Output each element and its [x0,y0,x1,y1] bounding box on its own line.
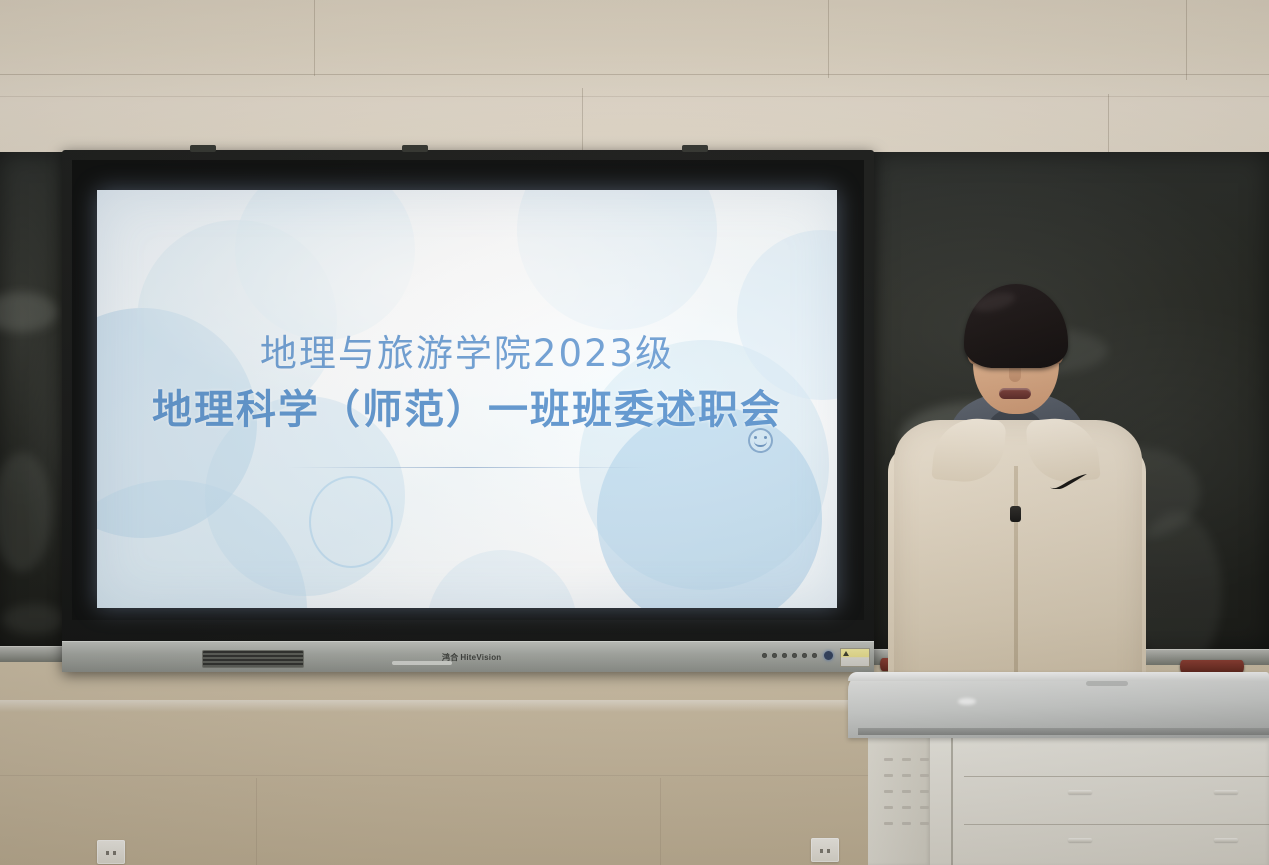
power-button[interactable] [824,651,833,660]
lectern[interactable] [848,672,1269,865]
panel-button[interactable] [792,653,797,658]
wall-grout-line [1186,0,1187,80]
slide-canvas: 地理与旅游学院2023级 地理科学（师范）一班班委述职会 [97,190,837,608]
panel-button[interactable] [802,653,807,658]
panel-button-row[interactable] [762,653,817,658]
presenter [872,280,1162,700]
lectern-side-panel [868,732,930,865]
slide-title-line1: 地理与旅游学院2023级 [97,326,837,382]
lectern-lip [848,672,1269,681]
lectern-highlight [958,698,976,705]
drawer-pull[interactable] [1214,838,1238,842]
drawer-pull[interactable] [1214,790,1238,794]
panel-mount-bracket [402,145,428,152]
lectern-panel-seam [951,732,953,865]
lectern-front-edge [858,728,1269,735]
nike-swoosh-icon [1048,474,1088,489]
wall-grout-line [256,778,257,865]
panel-mount-bracket [190,145,216,152]
hair [964,284,1068,368]
mouth [999,388,1031,399]
drawer-pull[interactable] [1068,790,1092,794]
panel-mount-bracket [682,145,708,152]
wall-grout-line [582,88,583,154]
slide-title-line2: 地理科学（师范）一班班委述职会 [97,382,837,438]
warning-sticker [840,648,870,667]
warning-triangle-icon [843,651,849,656]
bokeh-ring [309,476,393,568]
wall-grout-line [314,0,315,76]
classroom-scene: 地理与旅游学院2023级 地理科学（师范）一班班委述职会 鸿合HiteVisio… [0,0,1269,865]
speaker-grille [202,650,304,668]
stylus-tray[interactable] [392,661,452,665]
bokeh-circle [517,190,717,330]
zipper-pull [1010,506,1021,522]
wall-grout-line [0,96,1269,97]
wall-grout-line [0,74,1269,75]
panel-button[interactable] [782,653,787,658]
slide-divider [287,467,647,468]
presentation-screen[interactable]: 地理与旅游学院2023级 地理科学（师范）一班班委述职会 [97,190,837,608]
drawer-pull[interactable] [1068,838,1092,842]
panel-button[interactable] [762,653,767,658]
panel-control-bar[interactable]: 鸿合HiteVision [62,641,874,672]
wall-grout-line [660,778,661,865]
panel-button[interactable] [772,653,777,658]
wall-grout-line [828,0,829,78]
brand-en: HiteVision [460,653,501,662]
smiley-circle-watermark-icon [748,428,773,453]
wall-outlet[interactable] [811,838,839,862]
interactive-flat-panel[interactable]: 地理与旅游学院2023级 地理科学（师范）一班班委述职会 鸿合HiteVisio… [62,150,874,672]
jacket [894,420,1142,702]
bokeh-circle [427,550,577,608]
lectern-notch [1086,681,1128,686]
wall-grout-line [1108,94,1109,152]
jacket-zipper [1014,466,1018,698]
panel-button[interactable] [812,653,817,658]
wall-outlet[interactable] [97,840,125,864]
